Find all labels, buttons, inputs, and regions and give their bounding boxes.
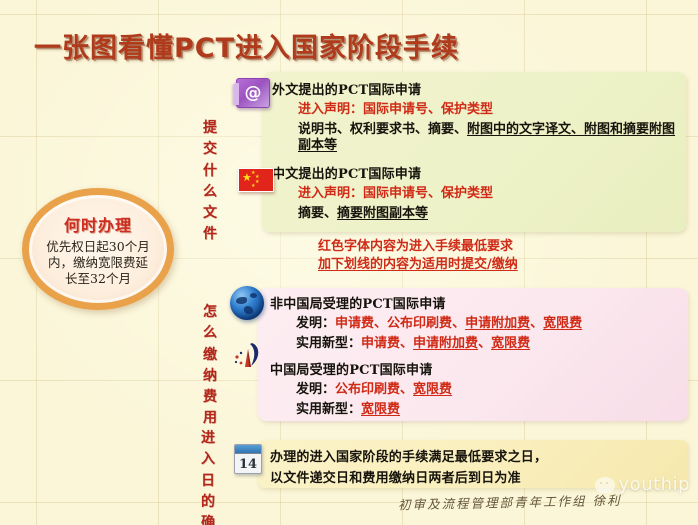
fee-item: 公布印刷费 [387,316,452,331]
flag-star-small: ★ [251,184,255,189]
fee-item: 宽限费 [491,336,530,351]
at-glyph: @ [245,83,262,103]
fee-row-label: 发明： [296,382,335,397]
fee-item-separator: 、 [400,382,413,397]
china-flag-icon: ★ ★ ★ ★ ★ [238,168,274,192]
fee-item-separator: 、 [530,316,543,331]
when-to-file-oval: 何时办理 优先权日起30个月内，缴纳宽限费延长至32个月 [22,188,174,310]
legend-line-underline: 加下划线的内容为适用时提交/缴纳 [318,256,518,274]
fee-item: 公布印刷费 [335,382,400,397]
doc-block-line-declaration: 进入声明：国际申请号、保护类型 [272,186,680,203]
fee-row-invention: 发明：公布印刷费、宽限费 [270,382,688,399]
doc-line-underlined: 摘要附图副本等 [337,206,428,221]
watermark: youthip [595,474,690,495]
doc-block-foreign-language: 外文提出的PCT国际申请 进入声明：国际申请号、保护类型 说明书、权利要求书、摘… [272,79,680,154]
flag-star-small: ★ [255,180,259,185]
fee-row-label: 发明： [296,316,335,331]
legend: 红色字体内容为进入手续最低要求 加下划线的内容为适用时提交/缴纳 [318,238,518,275]
fee-row-invention: 发明：申请费、公布印刷费、申请附加费、宽限费 [270,316,688,333]
fee-block-non-cn-ro: 非中国局受理的PCT国际申请 发明：申请费、公布印刷费、申请附加费、宽限费 实用… [270,293,688,353]
fee-item: 申请费 [335,316,374,331]
fee-row-items: 申请费、公布印刷费、申请附加费、宽限费 [335,316,582,331]
wechat-icon [595,477,615,493]
globe-icon [230,286,264,320]
fee-item: 申请费 [361,336,400,351]
calendar-icon: 14 [234,444,262,474]
legend-line-red: 红色字体内容为进入手续最低要求 [318,238,518,256]
fee-item: 宽限费 [413,382,452,397]
fee-block-heading: 中国局受理的PCT国际申请 [270,359,688,378]
calendar-header [235,445,261,454]
fee-item-separator: 、 [374,316,387,331]
cnipa-logo-icon [232,340,264,370]
fee-row-items: 公布印刷费、宽限费 [335,382,452,397]
fee-item-separator: 、 [452,316,465,331]
fee-item: 宽限费 [361,402,400,417]
fee-row-utility-model: 实用新型：申请费、申请附加费、宽限费 [270,336,688,353]
fee-item-separator: 、 [400,336,413,351]
doc-block-line-abstract: 摘要、摘要附图副本等 [272,206,680,223]
oval-heading: 何时办理 [64,212,132,236]
section-label-submit-documents: 提交什么文件 [198,118,222,246]
doc-block-chinese-language: 中文提出的PCT国际申请 进入声明：国际申请号、保护类型 摘要、摘要附图副本等 [272,163,680,223]
doc-block-line-declaration: 进入声明：国际申请号、保护类型 [272,102,680,119]
section-label-entry-date: 进入日的确定 [196,428,220,525]
author-signature: 初审及流程管理部青年工作组 徐利 [398,490,622,514]
fee-row-items: 宽限费 [361,402,400,417]
fee-row-label: 实用新型： [296,336,361,351]
entry-date-line-1: 办理的进入国家阶段的手续满足最低要求之日， [270,446,688,465]
calendar-day-number: 14 [235,454,261,474]
doc-block-heading: 外文提出的PCT国际申请 [272,79,680,98]
fee-block-cn-ro: 中国局受理的PCT国际申请 发明：公布印刷费、宽限费 实用新型：宽限费 [270,359,688,419]
page-title: 一张图看懂PCT进入国家阶段手续 [34,26,459,65]
globe-landmass [236,297,247,304]
doc-block-heading: 中文提出的PCT国际申请 [272,163,680,182]
fee-block-heading: 非中国局受理的PCT国际申请 [270,293,688,312]
infographic-page: 一张图看懂PCT进入国家阶段手续 何时办理 优先权日起30个月内，缴纳宽限费延长… [0,0,698,525]
fee-row-label: 实用新型： [296,402,361,417]
fee-item: 申请附加费 [465,316,530,331]
fee-row-utility-model: 实用新型：宽限费 [270,402,688,419]
fee-item: 申请附加费 [413,336,478,351]
doc-line-plain: 摘要、 [298,206,337,221]
fee-row-items: 申请费、申请附加费、宽限费 [361,336,530,351]
fee-item-separator: 、 [478,336,491,351]
email-at-icon: @ [236,78,270,108]
watermark-text: youthip [619,474,690,495]
globe-landmass [250,293,257,298]
globe-landmass [244,306,253,314]
oval-body: 优先权日起30个月内，缴纳宽限费延长至32个月 [44,239,152,287]
fee-item: 宽限费 [543,316,582,331]
doc-line-plain: 说明书、权利要求书、摘要、 [298,122,467,137]
section-label-pay-fees: 怎么缴纳费用 [198,302,222,430]
doc-block-line-translation: 说明书、权利要求书、摘要、附图中的文字译文、附图和摘要附图副本等 [272,122,680,154]
